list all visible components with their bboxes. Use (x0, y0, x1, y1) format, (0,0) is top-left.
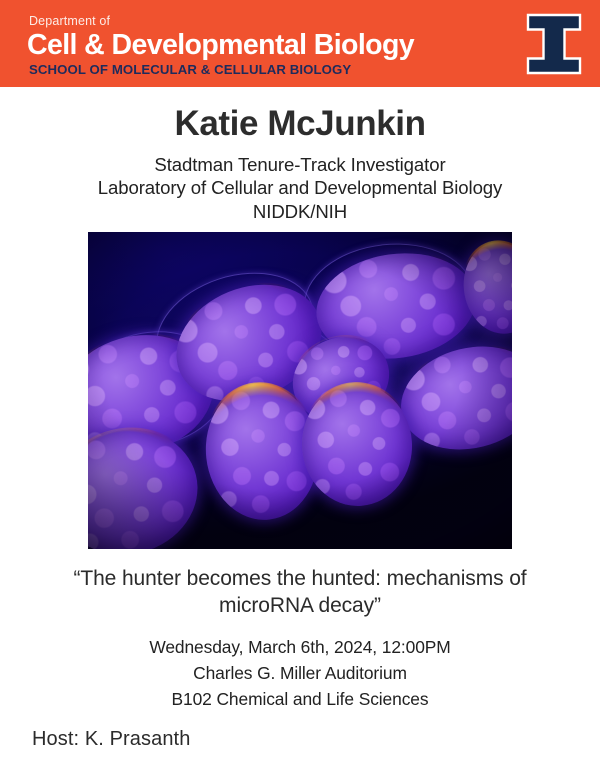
event-room: B102 Chemical and Life Sciences (0, 686, 600, 712)
school-subtitle: SCHOOL OF MOLECULAR & CELLULAR BIOLOGY (29, 62, 351, 77)
department-header-banner: Department of Cell & Developmental Biolo… (0, 0, 600, 87)
micrograph-vignette-layer (88, 232, 512, 549)
event-details: Wednesday, March 6th, 2024, 12:00PM Char… (0, 634, 600, 712)
illinois-block-i-icon (526, 13, 582, 75)
event-venue: Charles G. Miller Auditorium (0, 660, 600, 686)
fluorescence-micrograph-image (88, 232, 512, 549)
talk-title: “The hunter becomes the hunted: mechanis… (55, 565, 545, 619)
affiliation-line: NIDDK/NIH (0, 200, 600, 223)
affiliation-line: Stadtman Tenure-Track Investigator (0, 153, 600, 176)
event-datetime: Wednesday, March 6th, 2024, 12:00PM (0, 634, 600, 660)
department-title: Cell & Developmental Biology (27, 29, 414, 61)
host-label: Host: K. Prasanth (32, 726, 190, 752)
affiliation-line: Laboratory of Cellular and Developmental… (0, 176, 600, 199)
speaker-affiliations: Stadtman Tenure-Track Investigator Labor… (0, 153, 600, 223)
department-eyebrow-label: Department of (29, 14, 110, 28)
speaker-name: Katie McJunkin (0, 104, 600, 144)
